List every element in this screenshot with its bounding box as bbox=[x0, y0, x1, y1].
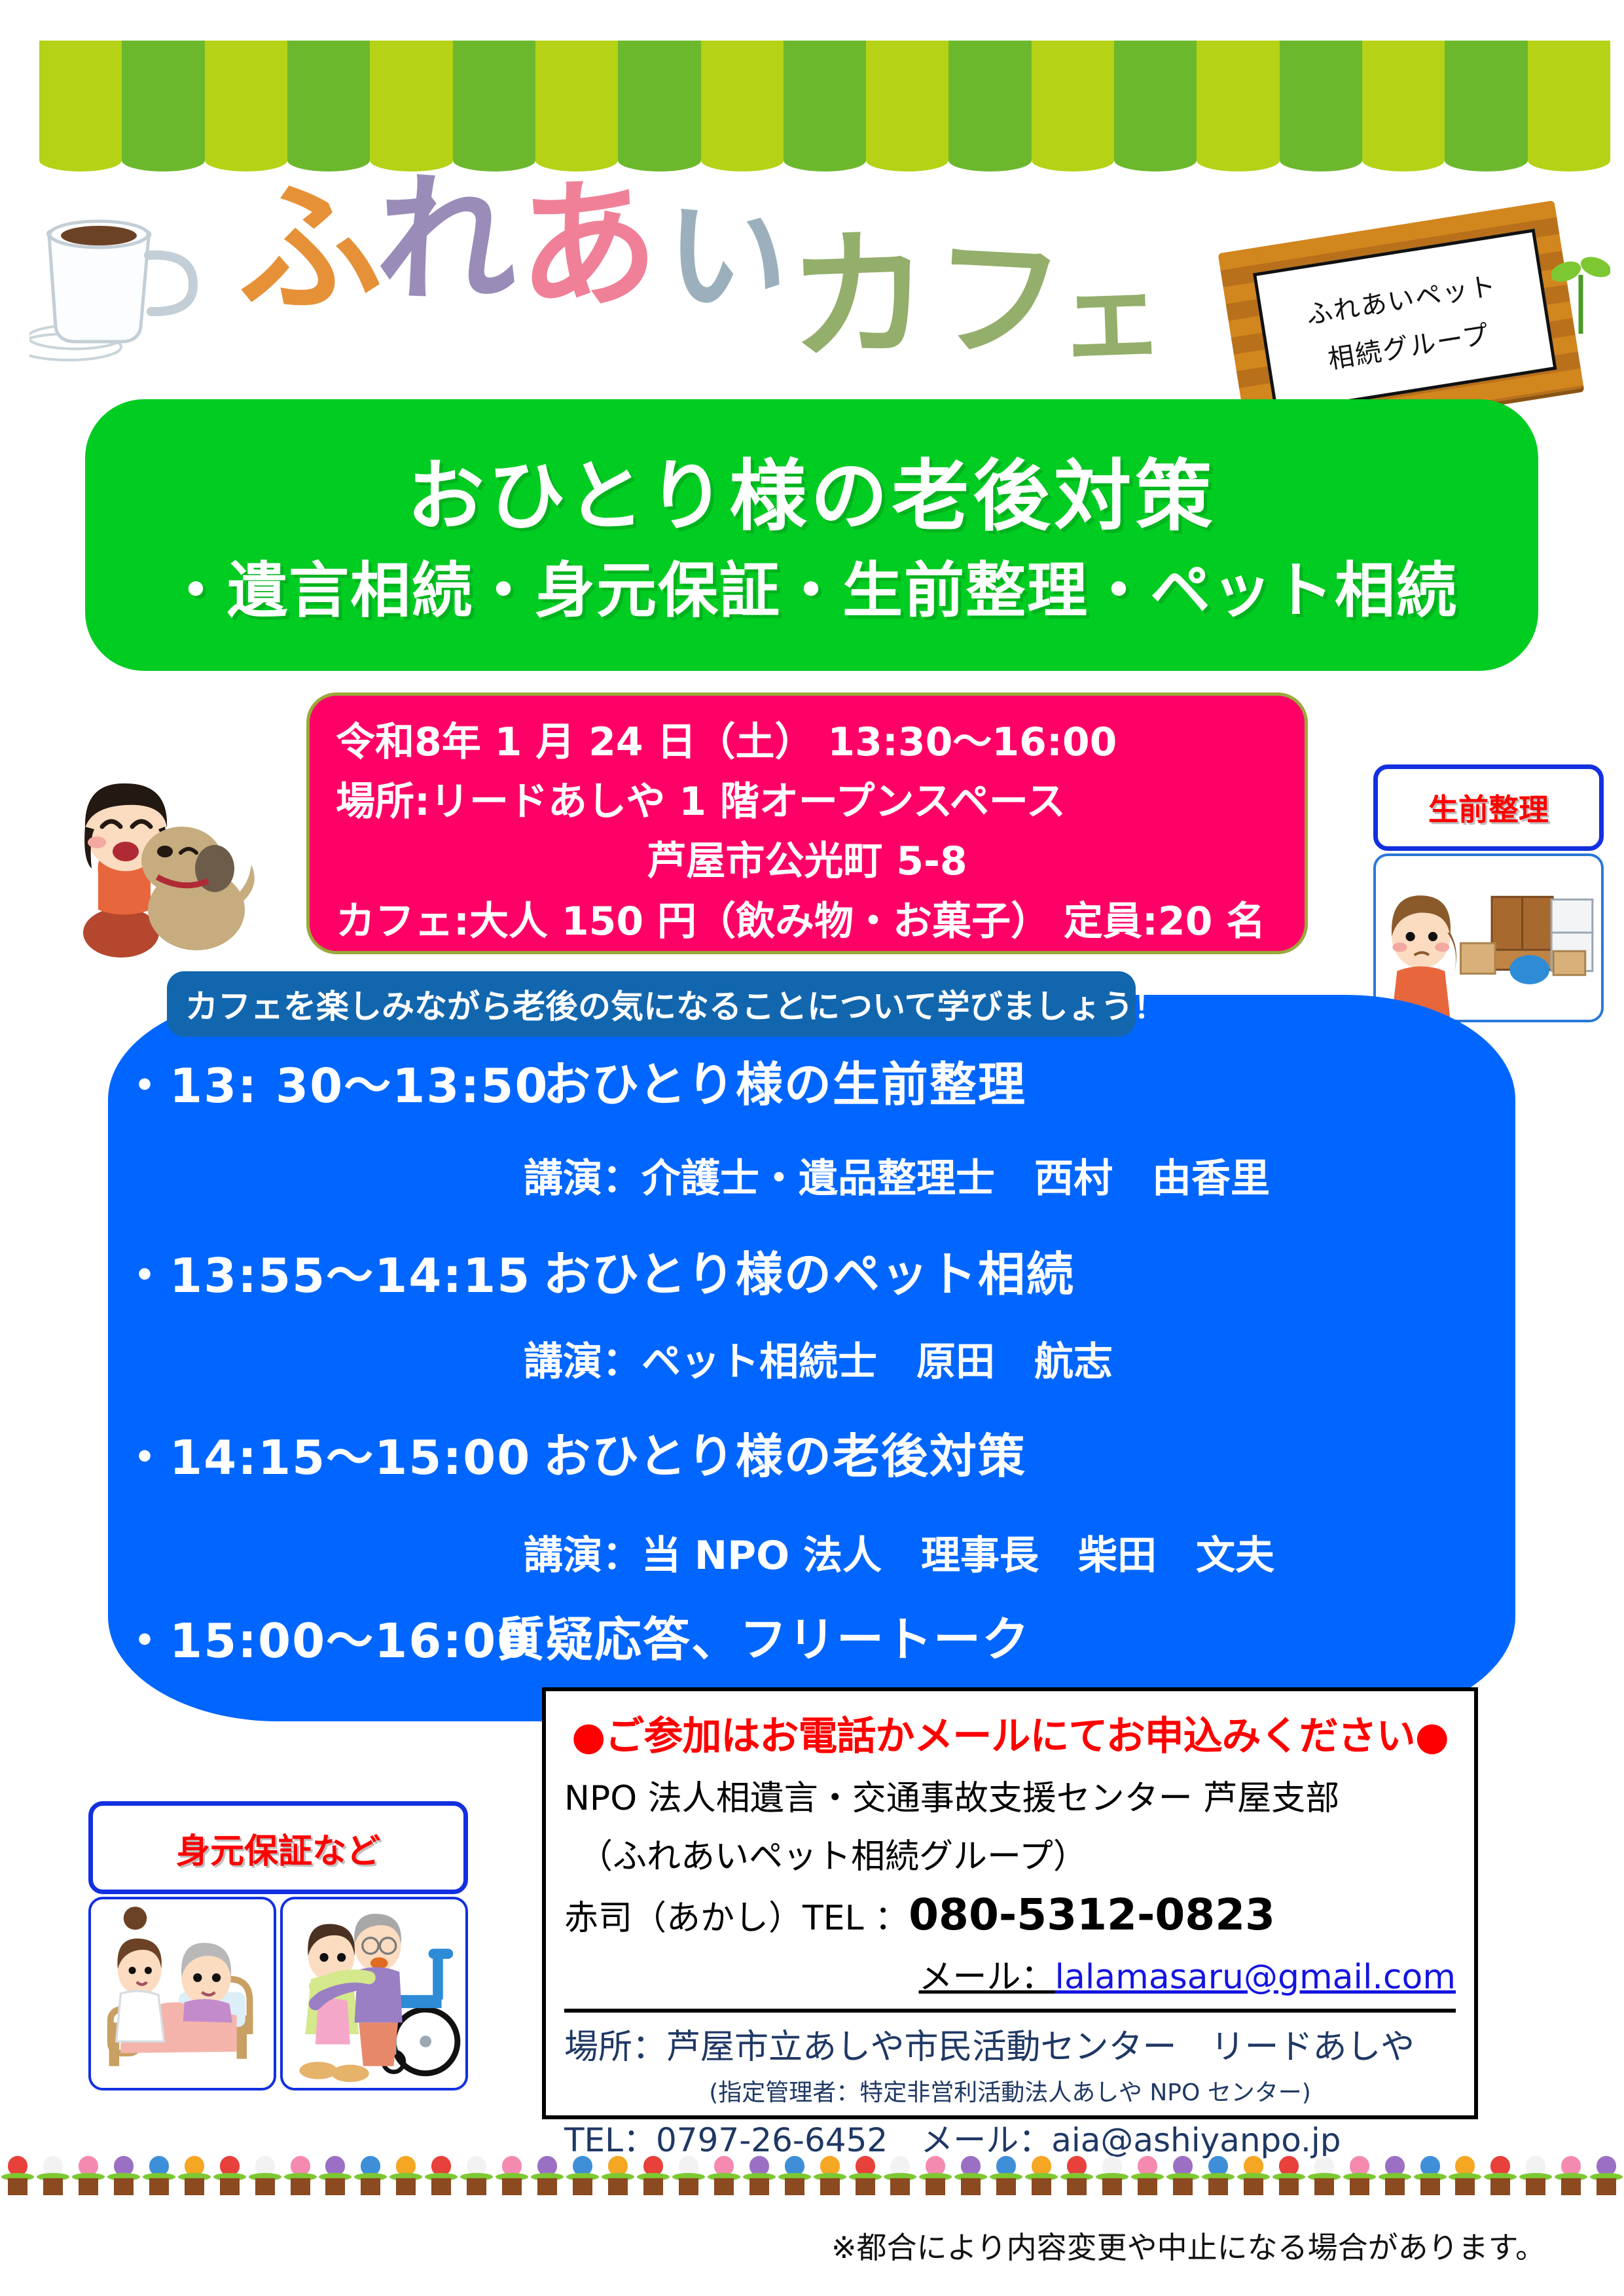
flower-pot-icon bbox=[317, 2155, 353, 2195]
mimoto-illustrations bbox=[88, 1897, 468, 2090]
flower-pot-icon bbox=[141, 2155, 177, 2195]
program-item-1-time: ・13:55～14:15 bbox=[121, 1237, 531, 1306]
awning-stripe bbox=[618, 41, 700, 171]
flower-pot-icon bbox=[1342, 2155, 1377, 2195]
flower-pot-icon bbox=[494, 2155, 530, 2195]
flower-pot-icon bbox=[1130, 2155, 1165, 2195]
awning-decoration bbox=[39, 41, 1610, 171]
flower-pot-icon bbox=[1236, 2155, 1271, 2195]
flower-pot-icon bbox=[988, 2155, 1024, 2195]
event-date: 令和8年 1 月 24 日（土） 13:30～16:00 bbox=[336, 713, 1278, 772]
mimoto-caption: 身元保証など bbox=[88, 1801, 468, 1894]
logo-char-4: カ bbox=[786, 223, 931, 368]
awning-stripe bbox=[1197, 41, 1279, 171]
contact-headline: ●ご参加はお電話かメールにてお申込みください● bbox=[564, 1704, 1456, 1761]
program-item-0-time: ・13: 30～13:50 bbox=[121, 1047, 549, 1116]
footer-note: ※都合により内容変更や中止になる場合があります。 bbox=[0, 2224, 1545, 2267]
flower-pot-icon bbox=[953, 2155, 988, 2195]
program-item-1-title: おひとり様のペット相続 bbox=[543, 1236, 1075, 1304]
flower-pot-icon bbox=[1413, 2155, 1448, 2195]
flower-pot-icon bbox=[1307, 2155, 1342, 2195]
flower-pot-icon bbox=[1059, 2155, 1094, 2195]
coffee-cup-icon bbox=[29, 196, 219, 367]
program-item-3-time: ・15:00～16:00 bbox=[121, 1602, 531, 1671]
awning-stripe bbox=[39, 41, 122, 171]
flower-pot-icon bbox=[1165, 2155, 1200, 2195]
flower-pot-icon bbox=[636, 2155, 671, 2195]
awning-stripe bbox=[205, 41, 287, 171]
flower-pot-icon bbox=[600, 2155, 636, 2195]
awning-stripe bbox=[784, 41, 866, 171]
logo-char-3: い bbox=[660, 192, 793, 325]
contact-org-line1: NPO 法人相遺言・交通事故支援センター 芦屋支部 bbox=[564, 1770, 1456, 1820]
awning-stripe bbox=[453, 41, 535, 171]
flower-pot-icon bbox=[530, 2155, 565, 2195]
awning-stripe bbox=[122, 41, 204, 171]
flower-pot-icon bbox=[212, 2155, 247, 2195]
program-item-2-speaker: 講演：当 NPO 法人 理事長 柴田 文夫 bbox=[524, 1524, 1274, 1581]
logo-char-6: ェ bbox=[1055, 260, 1167, 372]
awning-stripe bbox=[287, 41, 370, 171]
flower-pot-icon bbox=[1483, 2155, 1518, 2195]
flower-pot-icon bbox=[353, 2155, 388, 2195]
flower-pot-icon bbox=[1553, 2155, 1589, 2195]
girl-hugging-dog-illustration bbox=[65, 769, 262, 959]
flower-pot-icon bbox=[247, 2155, 283, 2195]
contact-divider bbox=[564, 2009, 1456, 2013]
awning-stripe bbox=[1445, 41, 1527, 171]
contact-org-line2: （ふれあいペット相続グループ） bbox=[564, 1829, 1456, 1878]
seizen-caption-text: 生前整理 bbox=[1428, 786, 1549, 829]
program-sub-banner: カフェを楽しみながら老後の気になることについて学びましょう！ bbox=[167, 971, 1136, 1037]
event-fee: カフェ:大人 150 円（飲み物・お菓子） 定員:20 名 bbox=[336, 892, 1278, 952]
flower-pot-icon bbox=[1518, 2155, 1553, 2195]
flower-pot-icon bbox=[848, 2155, 883, 2195]
awning-stripe bbox=[370, 41, 452, 171]
seizen-seiri-box: 生前整理 bbox=[1373, 764, 1604, 1013]
awning-stripe bbox=[866, 41, 948, 171]
flower-pot-icon bbox=[71, 2155, 106, 2195]
awning-stripe bbox=[1362, 41, 1445, 171]
sprout-icon bbox=[1551, 249, 1610, 334]
mimoto-hosho-box: 身元保証など bbox=[88, 1801, 468, 2083]
flower-pot-icon bbox=[0, 2155, 35, 2195]
flower-pot-icon bbox=[283, 2155, 318, 2195]
contact-tel-label: 赤司（あかし）TEL ： bbox=[564, 1899, 909, 1938]
flower-pot-icon bbox=[106, 2155, 141, 2195]
event-info-box: 令和8年 1 月 24 日（土） 13:30～16:00 場所:リードあしや 1… bbox=[306, 692, 1308, 954]
venue-line1: 場所：芦屋市立あしや市民活動センター リードあしや bbox=[564, 2019, 1456, 2068]
flower-pot-icon bbox=[742, 2155, 777, 2195]
program-item-0-speaker: 講演：介護士・遺品整理士 西村 由香里 bbox=[524, 1147, 1270, 1204]
flower-pot-icon bbox=[671, 2155, 706, 2195]
flower-pot-icon bbox=[424, 2155, 459, 2195]
contact-tel-number[interactable]: 080-5312-0823 bbox=[909, 1890, 1275, 1940]
flower-pot-icon bbox=[177, 2155, 212, 2195]
program-sub-banner-text: カフェを楽しみながら老後の気になることについて学びましょう！ bbox=[185, 980, 1166, 1028]
awning-stripe bbox=[1032, 41, 1114, 171]
contact-mail-link[interactable]: lalamasaru@gmail.com bbox=[1055, 1958, 1456, 1997]
brand-logo: ふ れ あ い カ フ ェ bbox=[236, 164, 1218, 386]
event-address: 芦屋市公光町 5-8 bbox=[336, 832, 1278, 891]
logo-char-2: あ bbox=[514, 172, 662, 320]
flower-pot-icon bbox=[35, 2155, 71, 2195]
contact-mail-label: メール： bbox=[919, 1958, 1055, 1997]
logo-char-0: ふ bbox=[231, 172, 385, 326]
seizen-caption: 生前整理 bbox=[1373, 764, 1604, 851]
flower-pot-icon bbox=[777, 2155, 812, 2195]
flower-border-decoration bbox=[0, 2155, 1624, 2195]
flower-pot-icon bbox=[1589, 2155, 1624, 2195]
program-item-2-title: おひとり様の老後対策 bbox=[543, 1418, 1026, 1486]
flower-pot-icon bbox=[459, 2155, 494, 2195]
awning-stripe bbox=[1528, 41, 1610, 171]
flower-pot-icon bbox=[1024, 2155, 1059, 2195]
flower-pot-icon bbox=[1447, 2155, 1483, 2195]
flower-pot-icon bbox=[882, 2155, 918, 2195]
logo-char-1: れ bbox=[374, 168, 519, 313]
mimoto-caption-text: 身元保証など bbox=[176, 1823, 380, 1873]
program-item-2-time: ・14:15～15:00 bbox=[121, 1419, 531, 1488]
program-item-0-title: おひとり様の生前整理 bbox=[543, 1046, 1026, 1115]
program-item-3-title: 質疑応答、フリートーク bbox=[497, 1601, 1030, 1670]
flower-pot-icon bbox=[918, 2155, 953, 2195]
seizen-illustration bbox=[1373, 853, 1604, 1022]
flower-pot-icon bbox=[388, 2155, 424, 2195]
flower-pot-icon bbox=[1200, 2155, 1236, 2195]
event-place: 場所:リードあしや 1 階オープンスペース bbox=[336, 772, 1278, 832]
awning-stripe bbox=[535, 41, 618, 171]
flower-pot-icon bbox=[1094, 2155, 1130, 2195]
contact-box: ●ご参加はお電話かメールにてお申込みください● NPO 法人相遺言・交通事故支援… bbox=[542, 1687, 1478, 2119]
nurse-bed-illustration bbox=[88, 1897, 276, 2090]
main-title-banner: おひとり様の老後対策 ・遺言相続・身元保証・生前整理・ペット相続 bbox=[85, 399, 1538, 671]
awning-stripe bbox=[1114, 41, 1197, 171]
caregiver-wheelchair-illustration bbox=[280, 1897, 468, 2090]
awning-stripe bbox=[1280, 41, 1362, 171]
flower-pot-icon bbox=[812, 2155, 848, 2195]
flower-pot-icon bbox=[1271, 2155, 1307, 2195]
program-item-1-speaker: 講演：ペット相続士 原田 航志 bbox=[524, 1330, 1113, 1387]
flower-pot-icon bbox=[565, 2155, 600, 2195]
main-subtitle: ・遺言相続・身元保証・生前整理・ペット相続 bbox=[85, 542, 1538, 629]
awning-stripe bbox=[948, 41, 1031, 171]
contact-tel-row: 赤司（あかし）TEL ：080-5312-0823 bbox=[564, 1890, 1456, 1940]
venue-line2: (指定管理者：特定非営利活動法人あしや NPO センター) bbox=[564, 2073, 1456, 2108]
contact-mail-row: メール：lalamasaru@gmail.com bbox=[564, 1949, 1456, 1998]
logo-char-5: フ bbox=[929, 232, 1067, 370]
main-title: おひとり様の老後対策 bbox=[85, 433, 1538, 545]
flower-pot-icon bbox=[1377, 2155, 1413, 2195]
flower-pot-icon bbox=[706, 2155, 742, 2195]
awning-stripe bbox=[701, 41, 784, 171]
